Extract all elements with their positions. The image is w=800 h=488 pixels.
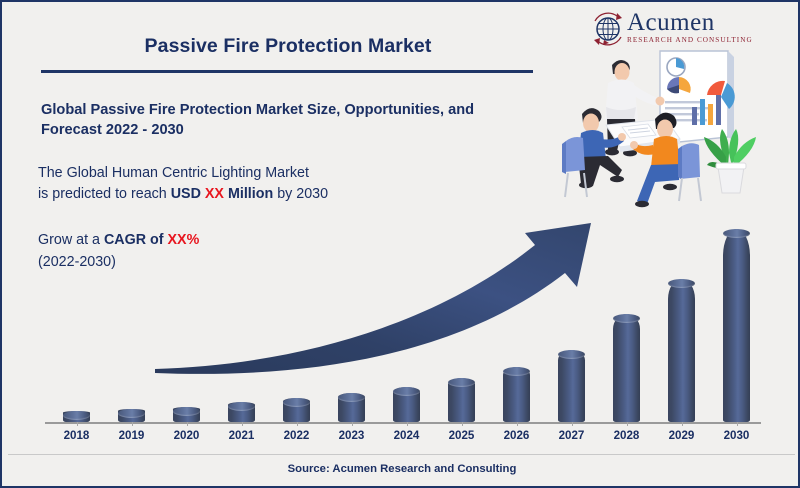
bar-2021 xyxy=(228,402,255,422)
x-tick-2027 xyxy=(572,422,573,426)
x-label-2024: 2024 xyxy=(377,429,437,442)
bar-2022 xyxy=(283,398,310,422)
bar-2024 xyxy=(393,387,420,422)
source-divider xyxy=(8,454,795,455)
bar-2025 xyxy=(448,378,475,422)
bar-2023 xyxy=(338,393,365,422)
x-label-2020: 2020 xyxy=(157,429,217,442)
x-label-2030: 2030 xyxy=(707,429,767,442)
x-label-2023: 2023 xyxy=(322,429,382,442)
bar-2030 xyxy=(723,229,750,422)
x-tick-2028 xyxy=(627,422,628,426)
x-label-2018: 2018 xyxy=(47,429,107,442)
x-label-2029: 2029 xyxy=(652,429,712,442)
bar-2018 xyxy=(63,411,90,422)
x-tick-2023 xyxy=(352,422,353,426)
x-label-2022: 2022 xyxy=(267,429,327,442)
x-label-2019: 2019 xyxy=(102,429,162,442)
x-label-2021: 2021 xyxy=(212,429,272,442)
bar-chart: 2018201920202021202220232024202520262027… xyxy=(5,5,795,483)
x-tick-2022 xyxy=(297,422,298,426)
x-tick-2020 xyxy=(187,422,188,426)
infographic-canvas: Acumen RESEARCH AND CONSULTING Passive F… xyxy=(5,5,795,483)
bar-2027 xyxy=(558,350,585,422)
bar-2019 xyxy=(118,409,145,422)
x-tick-2024 xyxy=(407,422,408,426)
x-label-2025: 2025 xyxy=(432,429,492,442)
x-tick-2025 xyxy=(462,422,463,426)
bar-2020 xyxy=(173,407,200,422)
x-tick-2019 xyxy=(132,422,133,426)
x-label-2027: 2027 xyxy=(542,429,602,442)
x-axis-line xyxy=(45,422,761,424)
x-label-2028: 2028 xyxy=(597,429,657,442)
bar-2028 xyxy=(613,314,640,422)
x-tick-2029 xyxy=(682,422,683,426)
x-tick-2030 xyxy=(737,422,738,426)
infographic-frame: Acumen RESEARCH AND CONSULTING Passive F… xyxy=(0,0,800,488)
bar-2029 xyxy=(668,279,695,422)
x-tick-2026 xyxy=(517,422,518,426)
bar-2026 xyxy=(503,367,530,422)
x-tick-2021 xyxy=(242,422,243,426)
x-tick-2018 xyxy=(77,422,78,426)
x-label-2026: 2026 xyxy=(487,429,547,442)
source-note: Source: Acumen Research and Consulting xyxy=(5,463,795,475)
